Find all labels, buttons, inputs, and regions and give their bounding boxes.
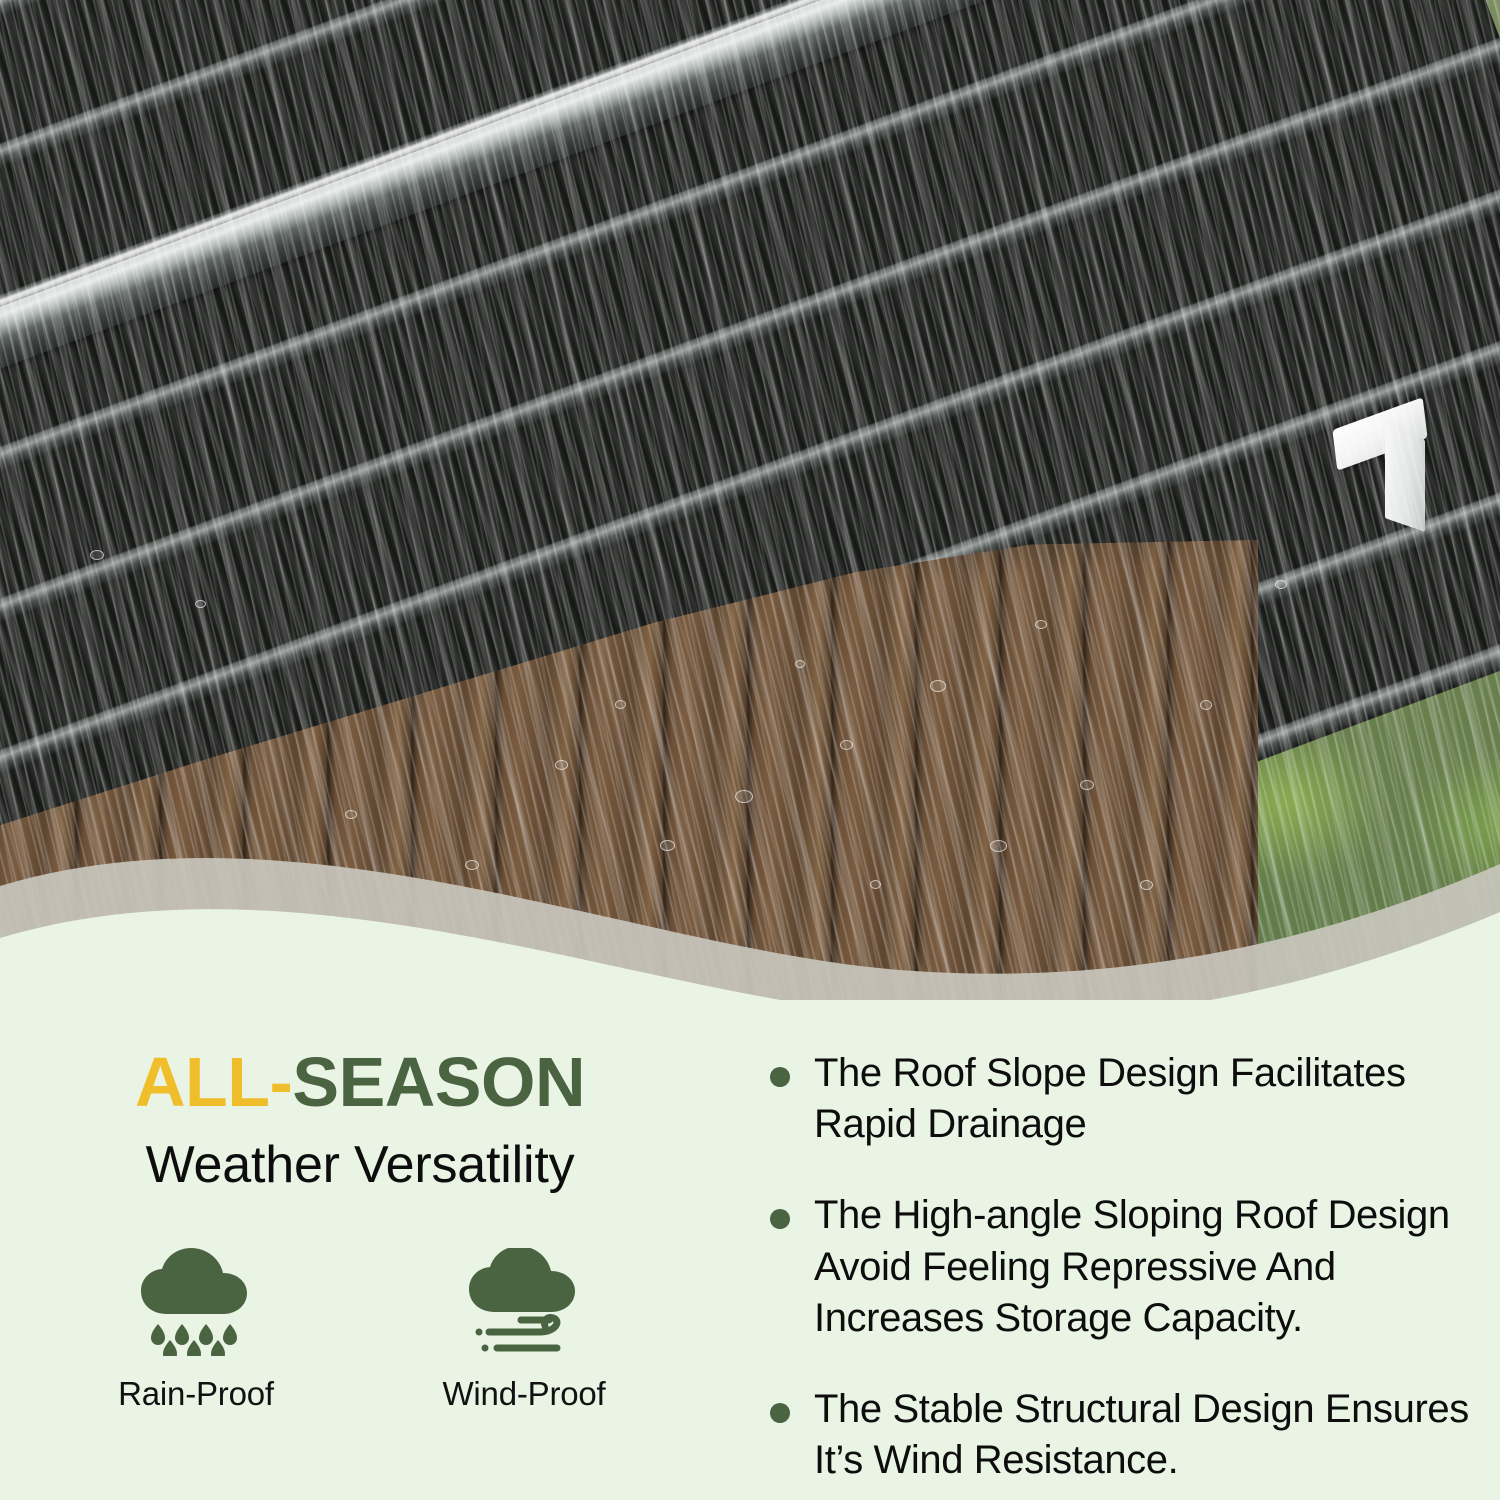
list-item: The Stable Structural Design Ensures It’… — [770, 1384, 1470, 1486]
bullet-dot-icon — [770, 1067, 790, 1087]
product-feature-banner: ALL-SEASON Weather Versatility — [0, 0, 1500, 1500]
bullet-text: The Stable Structural Design Ensures It’… — [814, 1384, 1470, 1486]
list-item: The Roof Slope Design Facilitates Rapid … — [770, 1048, 1470, 1150]
feature-bullet-list: The Roof Slope Design Facilitates Rapid … — [770, 1048, 1470, 1500]
beam-end-cap-face — [1385, 426, 1425, 532]
bullet-text: The High-angle Sloping Roof Design Avoid… — [814, 1190, 1470, 1344]
list-item: The High-angle Sloping Roof Design Avoid… — [770, 1190, 1470, 1344]
bullet-dot-icon — [770, 1403, 790, 1423]
page-title: ALL-SEASON — [0, 1046, 720, 1119]
wind-cloud-icon — [419, 1243, 629, 1361]
headline-main: SEASON — [292, 1043, 585, 1121]
feature-label: Rain-Proof — [91, 1375, 301, 1413]
page-subtitle: Weather Versatility — [0, 1135, 720, 1195]
feature-icon-list: Rain-Proof — [0, 1243, 720, 1413]
bullet-dot-icon — [770, 1209, 790, 1229]
rain-cloud-icon — [91, 1243, 301, 1361]
feature-rain-proof: Rain-Proof — [91, 1243, 301, 1413]
feature-label: Wind-Proof — [419, 1375, 629, 1413]
bullet-text: The Roof Slope Design Facilitates Rapid … — [814, 1048, 1470, 1150]
feature-wind-proof: Wind-Proof — [419, 1243, 629, 1413]
headline-column: ALL-SEASON Weather Versatility — [0, 1046, 720, 1413]
headline-highlight: ALL- — [135, 1043, 292, 1121]
product-photo — [0, 0, 1500, 1000]
wave-divider — [0, 820, 1500, 1000]
